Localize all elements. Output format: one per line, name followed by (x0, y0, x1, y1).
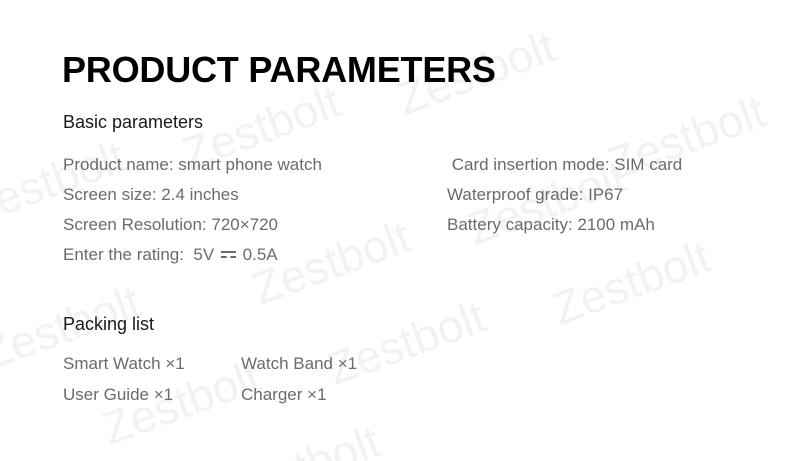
dc-power-symbol-icon (221, 250, 236, 259)
spec-rating-prefix: Enter the rating: 5V (63, 245, 219, 264)
packing-list-right-column: Watch Band ×1 Charger ×1 (241, 348, 357, 410)
basic-parameters-left-column: Product name: smart phone watch Screen s… (63, 150, 322, 270)
spec-card-insertion-mode: Card insertion mode: SIM card (447, 150, 682, 180)
spec-product-name: Product name: smart phone watch (63, 150, 322, 180)
content-layer: PRODUCT PARAMETERS Basic parameters Prod… (0, 0, 790, 461)
spec-rating-suffix: 0.5A (238, 245, 278, 264)
spec-enter-the-rating: Enter the rating: 5V 0.5A (63, 240, 322, 270)
spec-battery-capacity: Battery capacity: 2100 mAh (447, 210, 682, 240)
basic-parameters-right-column: Card insertion mode: SIM card Waterproof… (447, 150, 682, 240)
packing-list-heading: Packing list (63, 314, 154, 335)
packing-item-charger: Charger ×1 (241, 379, 357, 410)
packing-list-left-column: Smart Watch ×1 User Guide ×1 (63, 348, 185, 410)
page-title: PRODUCT PARAMETERS (62, 49, 496, 91)
product-parameters-page: ZestboltZestboltZestboltZestboltZestbolt… (0, 0, 790, 461)
packing-item-user-guide: User Guide ×1 (63, 379, 185, 410)
spec-screen-resolution: Screen Resolution: 720×720 (63, 210, 322, 240)
packing-item-watch-band: Watch Band ×1 (241, 348, 357, 379)
basic-parameters-heading: Basic parameters (63, 112, 203, 133)
spec-screen-size: Screen size: 2.4 inches (63, 180, 322, 210)
spec-waterproof-grade: Waterproof grade: IP67 (447, 180, 682, 210)
packing-item-smart-watch: Smart Watch ×1 (63, 348, 185, 379)
